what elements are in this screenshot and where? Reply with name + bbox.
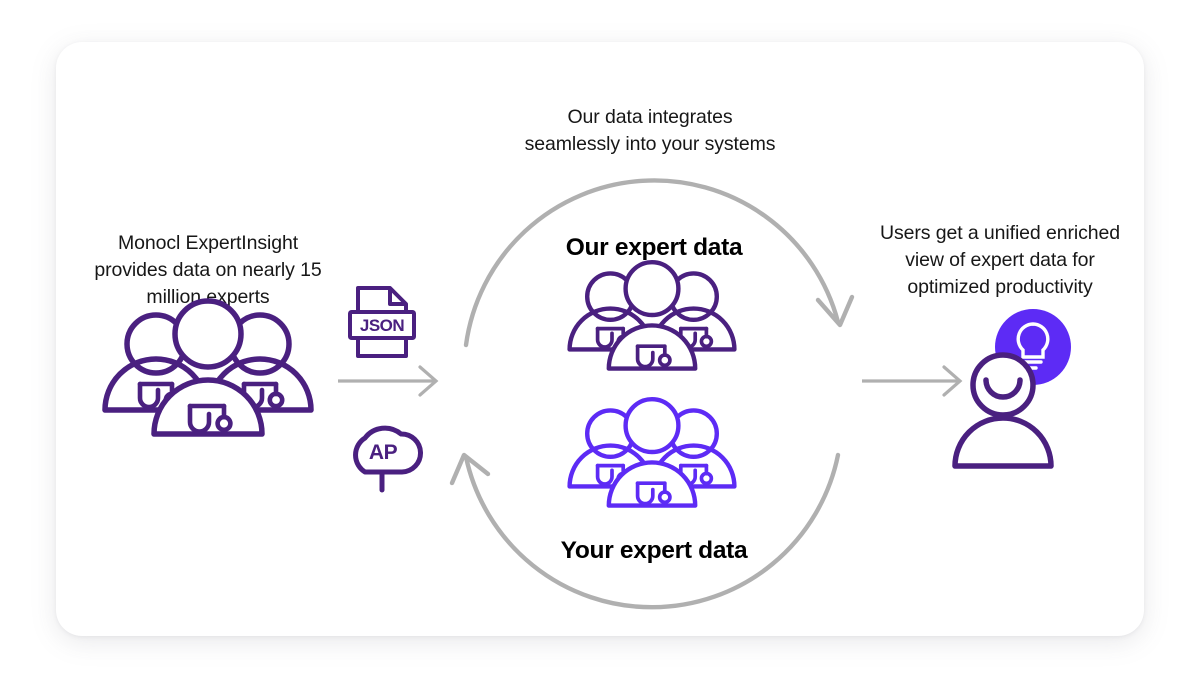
our-expert-data-label: Our expert data	[494, 234, 814, 262]
diagram-canvas: Our data integrates seamlessly into your…	[0, 0, 1200, 678]
outcome-caption: Users get a unified enriched view of exp…	[866, 220, 1134, 301]
your-expert-data-label: Your expert data	[494, 537, 814, 565]
json-file-label: JSON	[360, 316, 405, 335]
api-cloud-label: AP	[369, 441, 398, 464]
user-head	[973, 355, 1033, 415]
headline-caption: Our data integrates seamlessly into your…	[470, 104, 830, 158]
